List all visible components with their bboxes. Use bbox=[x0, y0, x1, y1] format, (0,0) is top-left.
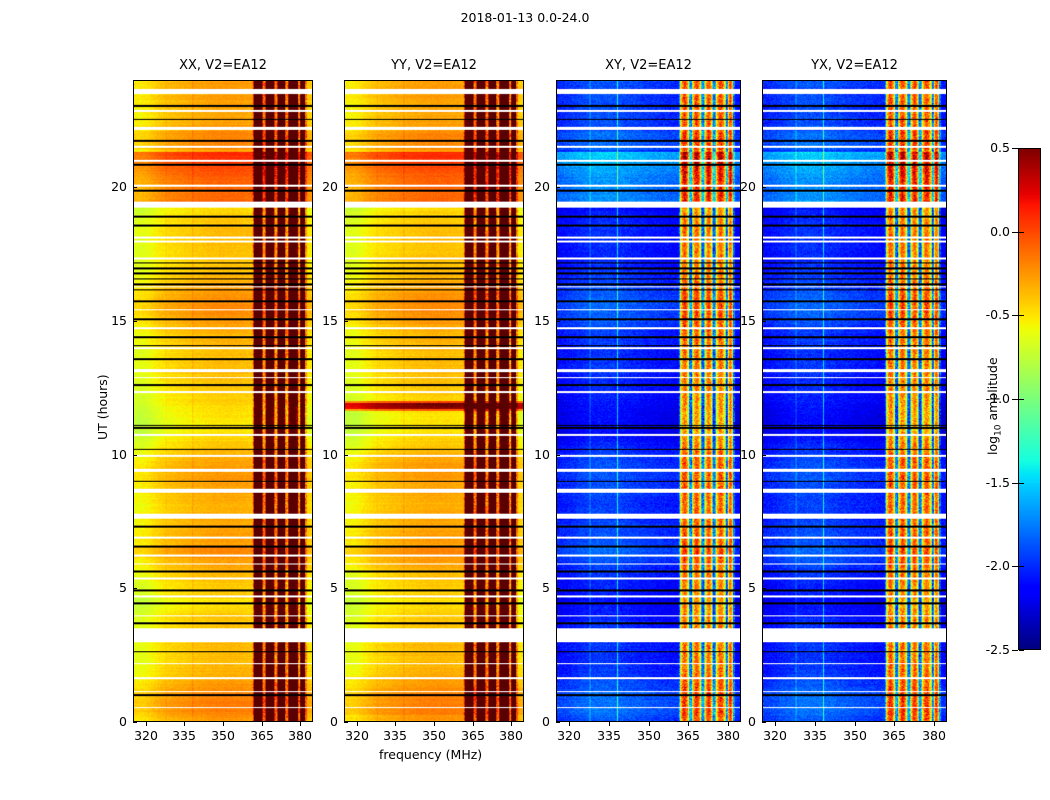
x-tick-label: 320 bbox=[126, 728, 166, 743]
y-tick-label: 20 bbox=[516, 179, 550, 194]
x-tick-label: 365 bbox=[453, 728, 493, 743]
x-tick-label: 320 bbox=[549, 728, 589, 743]
x-tick-mark bbox=[357, 722, 358, 726]
x-axis-label: frequency (MHz) bbox=[379, 747, 482, 762]
y-tick-mark bbox=[556, 321, 560, 322]
x-tick-mark bbox=[855, 722, 856, 726]
colorbar-tick-label: 0.0 bbox=[966, 224, 1010, 239]
y-tick-mark bbox=[762, 722, 766, 723]
y-tick-label: 20 bbox=[722, 179, 756, 194]
x-tick-label: 380 bbox=[491, 728, 531, 743]
panel-title-yx: YX, V2=EA12 bbox=[762, 58, 947, 73]
y-tick-label: 0 bbox=[722, 714, 756, 729]
y-tick-label: 0 bbox=[304, 714, 338, 729]
x-tick-mark bbox=[395, 722, 396, 726]
x-tick-label: 320 bbox=[337, 728, 377, 743]
x-tick-mark bbox=[473, 722, 474, 726]
y-tick-mark bbox=[133, 722, 137, 723]
colorbar-tick-mark bbox=[1012, 650, 1018, 651]
x-tick-label: 335 bbox=[795, 728, 835, 743]
y-tick-mark bbox=[556, 588, 560, 589]
heatmap-image-yy bbox=[345, 81, 523, 721]
y-tick-label: 10 bbox=[516, 447, 550, 462]
y-tick-label: 20 bbox=[304, 179, 338, 194]
figure-suptitle: 2018-01-13 0.0-24.0 bbox=[0, 10, 1050, 25]
y-tick-label: 5 bbox=[93, 580, 127, 595]
x-tick-label: 320 bbox=[755, 728, 795, 743]
colorbar-inner-tick bbox=[1019, 650, 1024, 651]
matplotlib-figure: 2018-01-13 0.0-24.0 XX, V2=EA12 YY, V2=E… bbox=[0, 0, 1050, 800]
colorbar-tick-label: -0.5 bbox=[966, 307, 1010, 322]
y-tick-mark bbox=[762, 187, 766, 188]
colorbar-label-main: log bbox=[985, 436, 1000, 455]
colorbar-tick-label: -2.0 bbox=[966, 558, 1010, 573]
colorbar-label-sub: 10 bbox=[994, 424, 1004, 435]
x-tick-label: 350 bbox=[203, 728, 243, 743]
x-tick-label: 350 bbox=[414, 728, 454, 743]
y-tick-label: 15 bbox=[304, 313, 338, 328]
panel-title-yy: YY, V2=EA12 bbox=[344, 58, 524, 73]
heatmap-panel-xx[interactable] bbox=[133, 80, 313, 722]
y-tick-mark bbox=[133, 321, 137, 322]
colorbar-inner-tick bbox=[1019, 315, 1024, 316]
y-tick-mark bbox=[133, 455, 137, 456]
x-tick-label: 335 bbox=[164, 728, 204, 743]
y-tick-label: 10 bbox=[304, 447, 338, 462]
x-tick-label: 335 bbox=[375, 728, 415, 743]
y-tick-label: 5 bbox=[304, 580, 338, 595]
x-tick-label: 350 bbox=[629, 728, 669, 743]
y-tick-label: 5 bbox=[722, 580, 756, 595]
colorbar-inner-tick bbox=[1019, 148, 1024, 149]
colorbar-inner-tick bbox=[1019, 399, 1024, 400]
x-tick-label: 350 bbox=[835, 728, 875, 743]
x-tick-label: 380 bbox=[280, 728, 320, 743]
x-tick-label: 335 bbox=[589, 728, 629, 743]
colorbar-tick-mark bbox=[1012, 315, 1018, 316]
x-tick-mark bbox=[688, 722, 689, 726]
x-tick-label: 380 bbox=[708, 728, 748, 743]
colorbar-tick-mark bbox=[1012, 399, 1018, 400]
y-tick-label: 10 bbox=[93, 447, 127, 462]
x-tick-mark bbox=[300, 722, 301, 726]
panel-title-xy: XY, V2=EA12 bbox=[556, 58, 741, 73]
y-tick-mark bbox=[556, 187, 560, 188]
y-tick-mark bbox=[133, 187, 137, 188]
x-tick-mark bbox=[894, 722, 895, 726]
x-tick-mark bbox=[649, 722, 650, 726]
y-tick-mark bbox=[344, 187, 348, 188]
colorbar-inner-tick bbox=[1019, 483, 1024, 484]
heatmap-panel-xy[interactable] bbox=[556, 80, 741, 722]
y-tick-mark bbox=[556, 722, 560, 723]
y-tick-label: 5 bbox=[516, 580, 550, 595]
y-tick-label: 15 bbox=[516, 313, 550, 328]
colorbar-tick-mark bbox=[1012, 483, 1018, 484]
x-tick-mark bbox=[184, 722, 185, 726]
heatmap-image-yx bbox=[763, 81, 946, 721]
heatmap-panel-yy[interactable] bbox=[344, 80, 524, 722]
colorbar-tick-label: 0.5 bbox=[966, 140, 1010, 155]
y-tick-label: 0 bbox=[93, 714, 127, 729]
x-tick-mark bbox=[511, 722, 512, 726]
y-tick-mark bbox=[762, 588, 766, 589]
x-tick-mark bbox=[262, 722, 263, 726]
x-tick-label: 365 bbox=[874, 728, 914, 743]
x-tick-mark bbox=[434, 722, 435, 726]
y-tick-label: 10 bbox=[722, 447, 756, 462]
heatmap-image-xx bbox=[134, 81, 312, 721]
colorbar-label: log10 amplitude bbox=[985, 357, 1004, 455]
y-tick-label: 20 bbox=[93, 179, 127, 194]
panel-title-xx: XX, V2=EA12 bbox=[133, 58, 313, 73]
y-tick-mark bbox=[344, 722, 348, 723]
colorbar-tick-mark bbox=[1012, 232, 1018, 233]
y-tick-label: 15 bbox=[93, 313, 127, 328]
x-tick-label: 380 bbox=[914, 728, 954, 743]
x-tick-mark bbox=[815, 722, 816, 726]
colorbar-inner-tick bbox=[1019, 232, 1024, 233]
y-tick-mark bbox=[344, 588, 348, 589]
heatmap-panel-yx[interactable] bbox=[762, 80, 947, 722]
x-tick-mark bbox=[609, 722, 610, 726]
y-tick-label: 15 bbox=[722, 313, 756, 328]
y-tick-mark bbox=[344, 321, 348, 322]
colorbar-inner-tick bbox=[1019, 566, 1024, 567]
y-tick-mark bbox=[344, 455, 348, 456]
colorbar-tick-label: -1.5 bbox=[966, 475, 1010, 490]
colorbar-tick-label: -1.0 bbox=[966, 391, 1010, 406]
x-tick-label: 365 bbox=[242, 728, 282, 743]
y-tick-mark bbox=[133, 588, 137, 589]
colorbar-tick-label: -2.5 bbox=[966, 642, 1010, 657]
y-tick-mark bbox=[762, 455, 766, 456]
x-tick-mark bbox=[569, 722, 570, 726]
y-tick-mark bbox=[762, 321, 766, 322]
x-tick-mark bbox=[146, 722, 147, 726]
x-tick-mark bbox=[934, 722, 935, 726]
x-tick-label: 365 bbox=[668, 728, 708, 743]
colorbar-tick-mark bbox=[1012, 148, 1018, 149]
y-tick-mark bbox=[556, 455, 560, 456]
x-tick-mark bbox=[775, 722, 776, 726]
y-axis-label: UT (hours) bbox=[95, 374, 110, 440]
heatmap-image-xy bbox=[557, 81, 740, 721]
y-tick-label: 0 bbox=[516, 714, 550, 729]
colorbar-tick-mark bbox=[1012, 566, 1018, 567]
x-tick-mark bbox=[223, 722, 224, 726]
